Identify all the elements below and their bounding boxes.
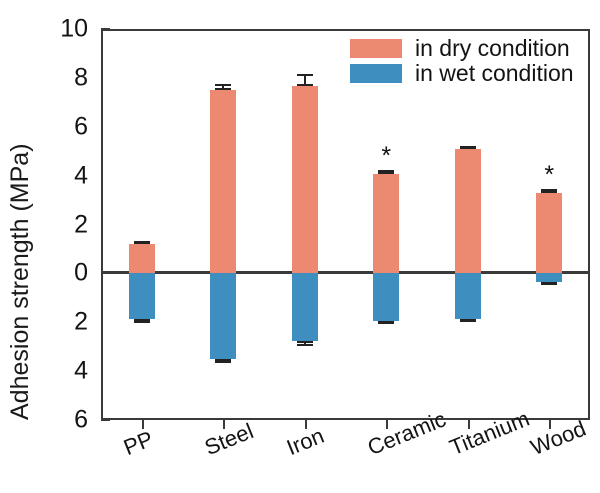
error-bar-cap (215, 84, 231, 86)
bar-wet-iron (292, 273, 318, 340)
error-bar-cap (215, 88, 231, 90)
error-bar-cap (378, 322, 394, 324)
significance-marker-ceramic: * (381, 144, 391, 169)
error-bar-cap (134, 321, 150, 323)
bar-dry-steel (210, 90, 236, 273)
legend-item-dry: in dry condition (350, 36, 575, 61)
plot-area (101, 29, 590, 420)
error-bar (540, 282, 558, 285)
legend-item-wet: in wet condition (350, 61, 575, 86)
bar-wet-steel (210, 273, 236, 359)
bar-dry-wood (536, 193, 562, 274)
error-bar-cap (215, 361, 231, 363)
legend-swatch-dry (350, 39, 402, 58)
legend-swatch-wet (350, 64, 402, 83)
error-bar-cap (460, 147, 476, 149)
error-bar (459, 146, 477, 149)
y-tick-label: 4 (28, 161, 88, 190)
bar-dry-pp (129, 244, 155, 273)
x-tick-label-steel: Steel (201, 418, 257, 461)
y-tick-label: 0 (28, 259, 88, 288)
error-bar (296, 74, 314, 86)
bar-dry-iron (292, 86, 318, 273)
bar-wet-ceramic (373, 273, 399, 321)
error-bar-cap (541, 191, 557, 193)
x-tick-label-wood: Wood (527, 416, 590, 461)
error-bar (133, 319, 151, 323)
error-bar (133, 241, 151, 244)
error-bar (540, 189, 558, 193)
error-bar-cap (378, 170, 394, 172)
y-tick-label: 4 (28, 357, 88, 386)
error-bar-cap (541, 283, 557, 285)
zero-baseline (101, 271, 590, 274)
chart-figure: Adhesion strength (MPa) 1086420246 ** PP… (0, 0, 600, 493)
bar-wet-wood (536, 273, 562, 282)
significance-marker-wood: * (544, 163, 554, 188)
error-bar-cap (297, 341, 313, 343)
error-bar-cap (297, 74, 313, 76)
error-bar-cap (378, 172, 394, 174)
bar-wet-titanium (455, 273, 481, 318)
error-bar (296, 341, 314, 346)
error-bar (214, 84, 232, 90)
y-tick-label: 2 (28, 308, 88, 337)
error-bar (459, 319, 477, 322)
bar-dry-ceramic (373, 174, 399, 273)
error-bar (214, 359, 232, 363)
x-tick-label-iron: Iron (283, 423, 328, 461)
error-bar (377, 170, 395, 175)
error-bar-cap (134, 242, 150, 244)
legend-label-wet: in wet condition (415, 60, 574, 87)
y-tick-label: 10 (28, 15, 88, 44)
bar-wet-pp (129, 273, 155, 318)
legend-label-dry: in dry condition (415, 35, 570, 62)
error-bar-cap (297, 344, 313, 346)
x-tick-label-pp: PP (120, 426, 157, 461)
y-tick-label: 6 (28, 406, 88, 435)
y-tick-label: 2 (28, 210, 88, 239)
error-bar (377, 321, 395, 324)
error-bar-cap (460, 320, 476, 322)
chart-legend: in dry condition in wet condition (350, 36, 575, 86)
y-tick-label: 8 (28, 63, 88, 92)
error-bar-cap (297, 84, 313, 86)
bar-dry-titanium (455, 149, 481, 274)
y-tick-label: 6 (28, 112, 88, 141)
